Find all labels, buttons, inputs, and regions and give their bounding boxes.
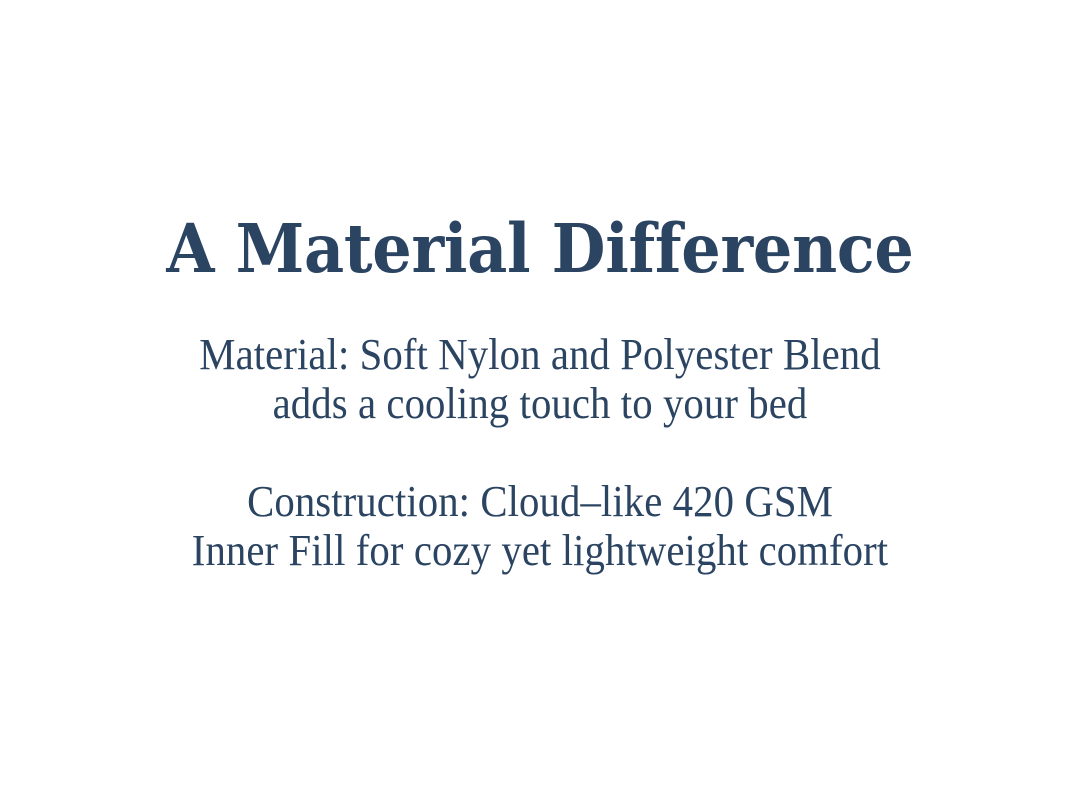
paragraph-construction-line-1: Construction: Cloud–like 420 GSM [40,477,1040,526]
paragraph-material: Material: Soft Nylon and Polyester Blend… [0,330,1080,428]
paragraph-spacer [0,428,1080,477]
paragraph-construction: Construction: Cloud–like 420 GSM Inner F… [0,477,1080,575]
page-title: A Material Difference [40,206,1040,292]
paragraph-material-line-2: adds a cooling touch to your bed [40,379,1040,428]
paragraph-construction-line-2: Inner Fill for cozy yet lightweight comf… [40,526,1040,575]
marketing-slide: A Material Difference Material: Soft Nyl… [0,0,1080,800]
paragraph-material-line-1: Material: Soft Nylon and Polyester Blend [40,330,1040,379]
body-copy-block: Material: Soft Nylon and Polyester Blend… [0,330,1080,575]
